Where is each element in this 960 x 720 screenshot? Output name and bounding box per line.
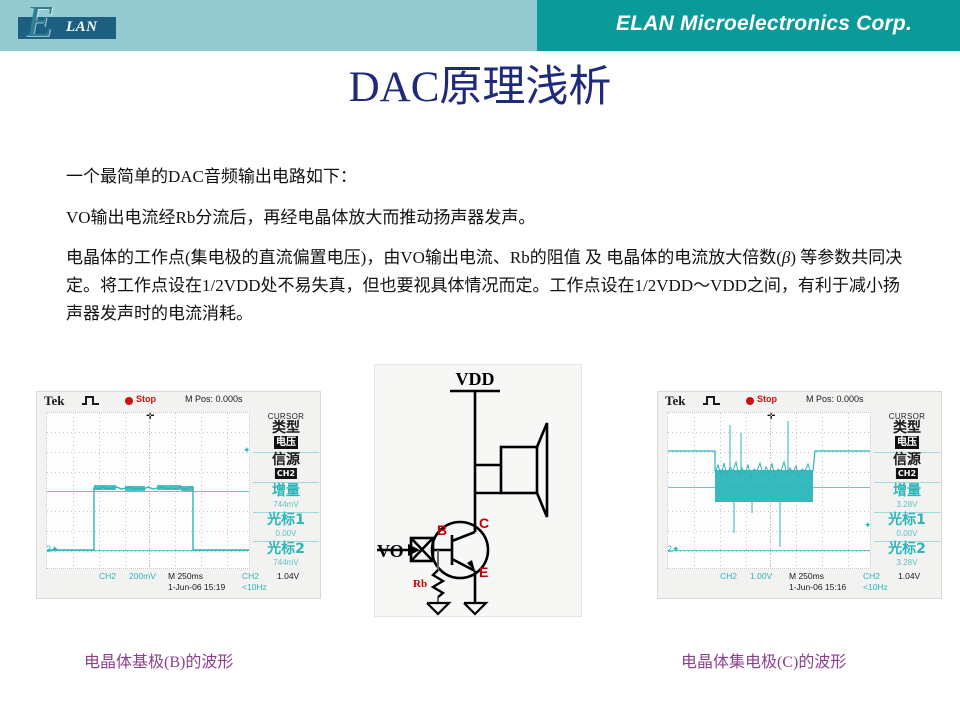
run-state-left: Stop bbox=[136, 394, 156, 404]
cursor-type-label-right: 类型 bbox=[874, 421, 940, 436]
paragraph-3: 电晶体的工作点(集电极的直流偏置电压)，由VO输出电流、Rb的阻值 及 电晶体的… bbox=[66, 244, 906, 328]
scope-topbar-right: Tek Stop M Pos: 0.000s bbox=[658, 392, 941, 410]
paragraph-1: 一个最简单的DAC音频输出电路如下： bbox=[66, 162, 906, 192]
speaker-cone bbox=[537, 423, 547, 517]
ground-symbol-rb bbox=[427, 603, 449, 614]
oscilloscope-capture-base: Tek Stop M Pos: 0.000s ✛ 2✦ ✦ bbox=[36, 391, 321, 599]
horizontal-position-right: M Pos: 0.000s bbox=[806, 394, 864, 404]
caption-base-waveform: 电晶体基极(B)的波形 bbox=[84, 648, 233, 672]
delta-value-right: 3.28V bbox=[874, 500, 940, 509]
cursor1-label-left: 光标1 bbox=[253, 513, 319, 528]
delta-label-right: 增量 bbox=[874, 484, 940, 499]
resistor-rb bbox=[433, 570, 443, 597]
trigger-source-right: CH2 bbox=[863, 571, 880, 581]
speaker-body bbox=[501, 447, 537, 493]
scope-side-menu-right: CURSOR 类型 电压 信源 CH2 增量 3.28V 光标1 0.00V 光… bbox=[874, 412, 940, 569]
paragraph-2: VO输出电流经Rb分流后，再经电晶体放大而推动扬声器发声。 bbox=[66, 203, 906, 233]
cursor-type-label-left: 类型 bbox=[253, 421, 319, 436]
time-per-div-right: M 250ms bbox=[789, 571, 824, 581]
scope-topbar-left: Tek Stop M Pos: 0.000s bbox=[37, 392, 320, 410]
trigger-level-right: 1.04V bbox=[898, 571, 920, 581]
body-copy: 一个最简单的DAC音频输出电路如下： VO输出电流经Rb分流后，再经电晶体放大而… bbox=[66, 162, 906, 328]
ground-symbol-emitter bbox=[464, 603, 486, 614]
company-name: ELAN Microelectronics Corp. bbox=[616, 12, 912, 36]
logo-e-mark: E bbox=[26, 0, 53, 44]
cursor-source-value-right: CH2 bbox=[896, 468, 918, 479]
stop-status-icon-left bbox=[125, 397, 133, 405]
amplifier-circuit-diagram: VDD VO B C E Rb bbox=[374, 364, 582, 617]
waveform-trace-left bbox=[47, 413, 250, 569]
tek-brand-right: Tek bbox=[665, 393, 685, 409]
trigger-level-left: 1.04V bbox=[277, 571, 299, 581]
cursor2-value-left: 744mV bbox=[253, 558, 319, 567]
oscilloscope-capture-collector: Tek Stop M Pos: 0.000s ✛ 2✦ ✦ bbox=[657, 391, 942, 599]
volts-per-div-right: 1.00V bbox=[750, 571, 772, 581]
scope-grid-right: ✛ 2✦ ✦ bbox=[667, 412, 871, 569]
capture-datetime-right: 1-Jun-06 15:16 bbox=[789, 582, 846, 592]
cursor2-label-right: 光标2 bbox=[874, 542, 940, 557]
capture-datetime-left: 1-Jun-06 15:19 bbox=[168, 582, 225, 592]
tek-brand-left: Tek bbox=[44, 393, 64, 409]
scope-footer-right: CH2 1.00V M 250ms 1-Jun-06 15:16 CH2 1.0… bbox=[658, 570, 941, 598]
waveform-trace-right bbox=[668, 413, 871, 569]
scope-grid-left: ✛ 2✦ ✦ bbox=[46, 412, 250, 569]
stop-status-icon-right bbox=[746, 397, 754, 405]
cursor1-value-left: 0.00V bbox=[253, 529, 319, 538]
cursor-source-label-right: 信源 bbox=[874, 453, 940, 468]
resistor-label: Rb bbox=[413, 578, 427, 590]
base-label: B bbox=[437, 522, 447, 538]
elan-logo: E LAN bbox=[12, 4, 132, 50]
horizontal-position-left: M Pos: 0.000s bbox=[185, 394, 243, 404]
measured-frequency-right: <10Hz bbox=[863, 582, 888, 592]
trigger-waveform-icon-right bbox=[703, 396, 721, 405]
channel-label-left: CH2 bbox=[99, 571, 116, 581]
cursor1-label-right: 光标1 bbox=[874, 513, 940, 528]
paragraph-3-part-a: 电晶体的工作点(集电极的直流偏置电压)，由VO输出电流、Rb的阻值 及 电晶体的… bbox=[66, 248, 782, 267]
cursor2-label-left: 光标2 bbox=[253, 542, 319, 557]
cursor2-value-right: 3.28V bbox=[874, 558, 940, 567]
run-state-right: Stop bbox=[757, 394, 777, 404]
cursor-type-value-right: 电压 bbox=[895, 436, 919, 449]
cursor-type-value-left: 电压 bbox=[274, 436, 298, 449]
volts-per-div-left: 200mV bbox=[129, 571, 156, 581]
collector-label: C bbox=[479, 515, 489, 531]
delta-value-left: 744mV bbox=[253, 500, 319, 509]
caption-collector-waveform: 电晶体集电极(C)的波形 bbox=[681, 648, 846, 672]
vo-label: VO bbox=[377, 541, 404, 561]
trigger-waveform-icon-left bbox=[82, 396, 100, 405]
trigger-source-left: CH2 bbox=[242, 571, 259, 581]
cursor-source-value-left: CH2 bbox=[275, 468, 297, 479]
emitter-label: E bbox=[479, 564, 488, 580]
scope-footer-left: CH2 200mV M 250ms 1-Jun-06 15:19 CH2 1.0… bbox=[37, 570, 320, 598]
vdd-label: VDD bbox=[456, 369, 495, 389]
scope-side-menu-left: CURSOR 类型 电压 信源 CH2 增量 744mV 光标1 0.00V 光… bbox=[253, 412, 319, 569]
cursor1-value-right: 0.00V bbox=[874, 529, 940, 538]
cursor-source-label-left: 信源 bbox=[253, 453, 319, 468]
logo-lan-text: LAN bbox=[66, 19, 98, 36]
page-header: E LAN ELAN Microelectronics Corp. bbox=[0, 0, 960, 51]
delta-label-left: 增量 bbox=[253, 484, 319, 499]
measured-frequency-left: <10Hz bbox=[242, 582, 267, 592]
time-per-div-left: M 250ms bbox=[168, 571, 203, 581]
page-title: DAC原理浅析 bbox=[0, 62, 960, 114]
channel-label-right: CH2 bbox=[720, 571, 737, 581]
